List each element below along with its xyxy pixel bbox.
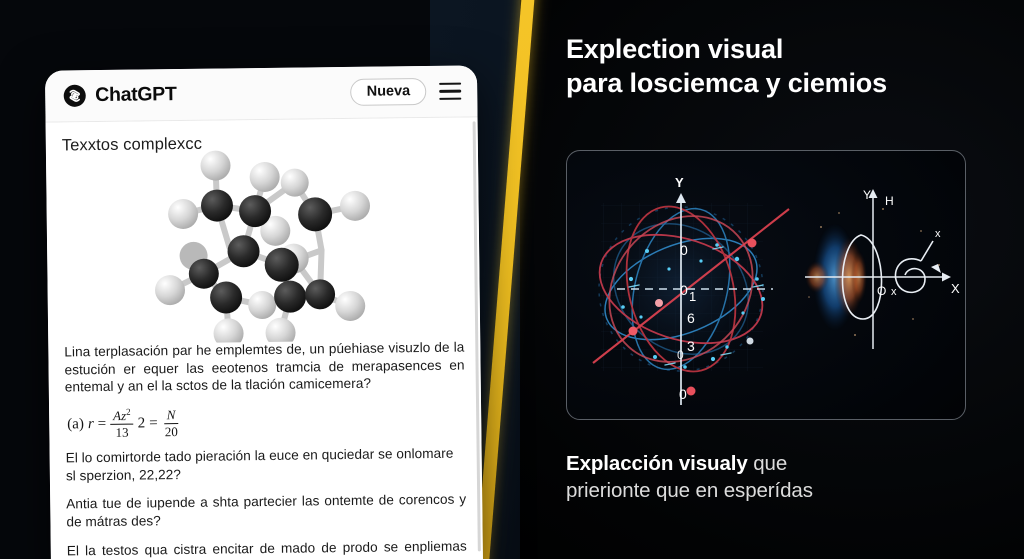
slide-canvas: ChatGPT Nueva Texxtos complexcc — [0, 0, 1024, 559]
formula-frac1-exponent: 2 — [126, 407, 131, 417]
formula-fraction-2: N 20 — [162, 408, 181, 439]
origin-label: O — [877, 284, 886, 298]
chat-document-body: Texxtos complexcc — [46, 117, 484, 559]
formula-frac2-numerator: N — [164, 408, 179, 424]
formula-equals-2: = — [149, 415, 158, 432]
formula-lhs: r — [88, 416, 94, 433]
origin-axis-label: x — [891, 286, 897, 298]
brand-name: ChatGPT — [95, 83, 177, 107]
document-paragraph: Lina terplasación par he emplemtes de, u… — [64, 339, 465, 397]
formula-fraction-1: Az2 13 — [110, 408, 134, 440]
formula-middle-term: 2 — [138, 415, 146, 432]
formula-frac1-numerator: Az — [113, 408, 126, 423]
atomic-orbital-diagram: Y 0 0 1 6 3 0 0 — [567, 151, 795, 419]
math-formula: (a) r = Az2 13 2 = N 20 — [67, 403, 465, 442]
axis-label-y: Y — [863, 188, 871, 202]
tick-label: 3 — [687, 338, 695, 354]
new-chat-button[interactable]: Nueva — [351, 78, 427, 106]
tick-label: 0 — [680, 282, 688, 298]
caption-bold: Explacción visualy — [566, 452, 748, 475]
chatgpt-logo-icon — [63, 84, 86, 107]
headline-line-1: Explection visual — [566, 32, 986, 66]
tick-label: 0 — [680, 242, 688, 258]
tick-label: 0 — [677, 348, 684, 362]
caption-rest: que — [748, 452, 788, 475]
document-paragraph: El lo comirtorde tado pieración la euce … — [66, 445, 466, 485]
hamburger-menu-icon[interactable] — [439, 83, 461, 100]
axis-label-h: H — [885, 194, 894, 208]
molecule-illustration — [62, 145, 464, 340]
tick-label: 6 — [687, 310, 695, 326]
chat-app-header: ChatGPT Nueva — [45, 65, 478, 122]
page-title: Explection visual para losciemca y ciemi… — [566, 32, 986, 100]
formula-label: (a) — [67, 416, 84, 433]
visualization-panel: Y 0 0 1 6 3 0 0 — [566, 150, 966, 420]
document-paragraph: El la testos qua cistra encitar de mado … — [67, 537, 467, 559]
headline-line-2: para losciemca y ciemios — [566, 66, 986, 100]
formula-frac1-denominator: 13 — [112, 425, 131, 440]
wave-spiral-diagram: Y H X x O x — [791, 169, 963, 359]
phone-mockup: ChatGPT Nueva Texxtos complexcc — [45, 65, 483, 559]
axis-label-y: Y — [675, 175, 684, 190]
formula-frac2-denominator: 20 — [162, 424, 181, 439]
brand-group: ChatGPT — [63, 83, 177, 107]
caption-text: Explacción visualy que prierionte que en… — [566, 450, 996, 505]
tick-label: 1 — [689, 289, 696, 304]
formula-equals-1: = — [98, 415, 107, 432]
caption-line-2: prierionte que en esperídas — [566, 477, 996, 504]
point-label-x: x — [935, 228, 941, 240]
document-paragraph: Antia tue de iupende a shta partecier la… — [66, 491, 466, 531]
tick-label: 0 — [679, 386, 687, 402]
axis-label-x: X — [951, 281, 960, 296]
